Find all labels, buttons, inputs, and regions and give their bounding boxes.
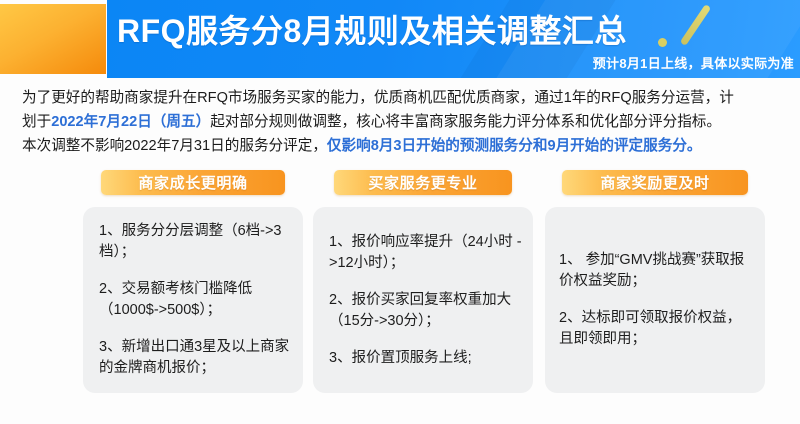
list-item: 2、报价买家回复率权重加大（15分->30分）； — [329, 290, 523, 332]
list-item: 1、报价响应率提升（24小时 ->12小时）； — [329, 232, 523, 274]
list-item: 3、新增出口通3星及以上商家的金牌商机报价； — [99, 337, 293, 379]
column-card-content-2: 1、报价响应率提升（24小时 ->12小时）； 2、报价买家回复率权重加大（15… — [329, 207, 523, 393]
list-item: 2、达标即可领取报价权益，且即领即用； — [559, 308, 755, 350]
feature-column-buyer-service: 买家服务更专业 1、报价响应率提升（24小时 ->12小时）； 2、报价买家回复… — [313, 170, 533, 393]
intro-paragraph: 为了更好的帮助商家提升在RFQ市场服务买家的能力，优质商机匹配优质商家，通过1年… — [22, 86, 780, 158]
list-item: 1、服务分分层调整（6档->3档）； — [99, 221, 293, 263]
feature-column-merchant-rewards: 商家奖励更及时 1、 参加“GMV挑战赛”获取报价权益奖励； 2、达标即可领取报… — [545, 170, 765, 393]
intro-paragraph-line-3: 本次调整不影响2022年7月31日的服务分评定，仅影响8月3日开始的预测服务分和… — [22, 134, 780, 158]
intro-text-2a: 划于 — [22, 114, 51, 130]
list-item: 2、交易额考核门槛降低（1000$->500$）； — [99, 279, 293, 321]
feature-column-merchant-growth: 商家成长更明确 1、服务分分层调整（6档->3档）； 2、交易额考核门槛降低（1… — [83, 170, 303, 393]
intro-text-1: 为了更好的帮助商家提升在RFQ市场服务买家的能力，优质商机匹配优质商家，通过1年… — [22, 90, 734, 106]
column-title-badge-2: 买家服务更专业 — [334, 170, 512, 195]
list-item: 3、报价置顶服务上线; — [329, 348, 523, 369]
column-card-3: 1、 参加“GMV挑战赛”获取报价权益奖励； 2、达标即可领取报价权益，且即领即… — [545, 207, 765, 393]
intro-highlight-date: 2022年7月22日（周五） — [51, 114, 210, 130]
column-title-label-1: 商家成长更明确 — [138, 172, 247, 193]
column-card-2: 1、报价响应率提升（24小时 ->12小时）； 2、报价买家回复率权重加大（15… — [313, 207, 533, 393]
slide-header: RFQ服务分8月规则及相关调整汇总 预计8月1日上线，具体以实际为准 — [0, 0, 800, 78]
comet-dot-icon — [658, 38, 667, 47]
page-title: RFQ服务分8月规则及相关调整汇总 — [117, 11, 627, 51]
list-item: 1、 参加“GMV挑战赛”获取报价权益奖励； — [559, 250, 755, 292]
column-card-content-3: 1、 参加“GMV挑战赛”获取报价权益奖励； 2、达标即可领取报价权益，且即领即… — [559, 207, 755, 393]
intro-paragraph-line-2: 划于2022年7月22日（周五）起对部分规则做调整，核心将丰富商家服务能力评分体… — [22, 110, 780, 134]
header-orange-accent-block — [0, 4, 106, 74]
intro-paragraph-line-1: 为了更好的帮助商家提升在RFQ市场服务买家的能力，优质商机匹配优质商家，通过1年… — [22, 86, 780, 110]
column-title-badge-1: 商家成长更明确 — [101, 170, 285, 195]
column-title-label-2: 买家服务更专业 — [368, 172, 477, 193]
intro-highlight-scope: 仅影响8月3日开始的预测服务分和9月开始的评定服务分。 — [327, 138, 702, 154]
header-blue-banner: RFQ服务分8月规则及相关调整汇总 预计8月1日上线，具体以实际为准 — [107, 0, 800, 78]
header-subtitle: 预计8月1日上线，具体以实际为准 — [593, 53, 794, 72]
intro-text-2b: 起对部分规则做调整，核心将丰富商家服务能力评分体系和优化部分评分指标。 — [210, 114, 721, 130]
slide-root: RFQ服务分8月规则及相关调整汇总 预计8月1日上线，具体以实际为准 为了更好的… — [0, 0, 800, 424]
column-title-badge-3: 商家奖励更及时 — [562, 170, 748, 195]
column-card-content-1: 1、服务分分层调整（6档->3档）； 2、交易额考核门槛降低（1000$->50… — [99, 207, 293, 393]
column-card-1: 1、服务分分层调整（6档->3档）； 2、交易额考核门槛降低（1000$->50… — [83, 207, 303, 393]
intro-text-3a: 本次调整不影响2022年7月31日的服务分评定， — [22, 138, 327, 154]
comet-streak-icon — [680, 4, 712, 46]
column-title-label-3: 商家奖励更及时 — [600, 172, 709, 193]
